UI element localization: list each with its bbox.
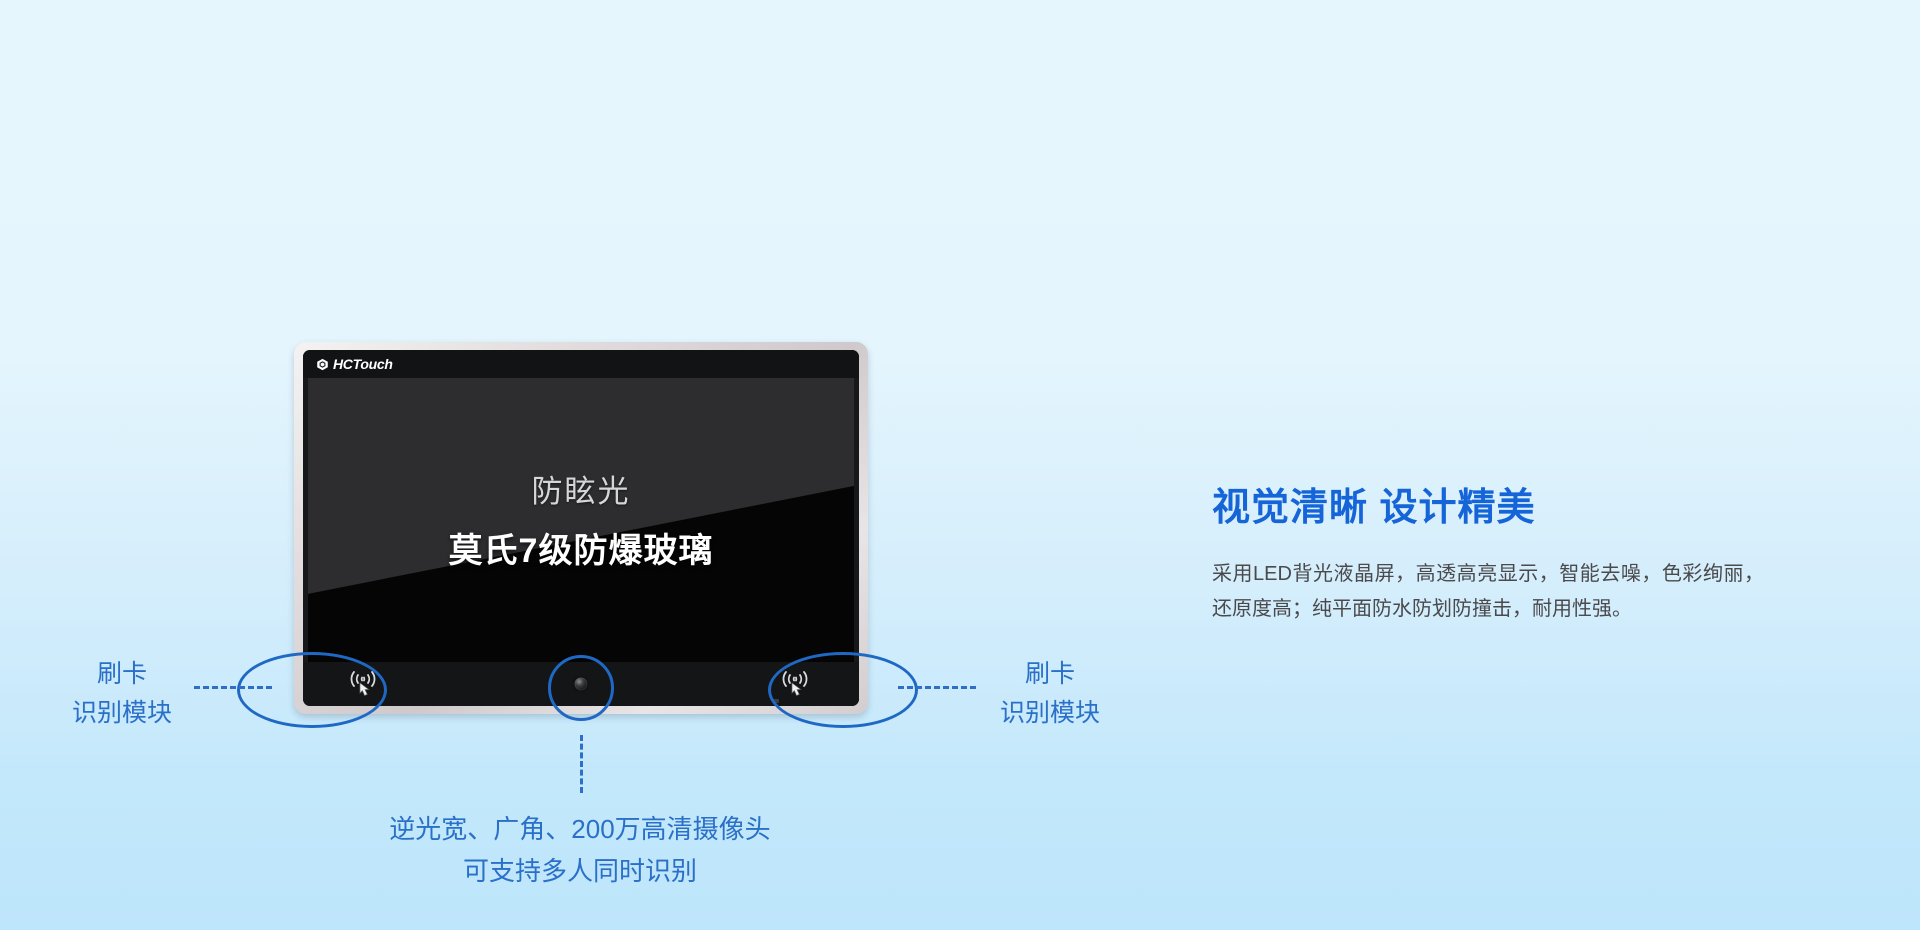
product-device: HCTouch 防眩光 莫氏7级防爆玻璃	[294, 342, 868, 714]
callout-leader-line-left	[194, 686, 272, 689]
callout-leader-line-camera	[580, 735, 583, 793]
device-screen: 防眩光 莫氏7级防爆玻璃	[308, 378, 854, 662]
nfc-card-reader-icon-left	[343, 669, 387, 699]
slide-canvas: HCTouch 防眩光 莫氏7级防爆玻璃	[0, 0, 1920, 930]
screen-glare-overlay	[308, 378, 854, 662]
brand-bar: HCTouch	[303, 350, 859, 378]
hctouch-cube-logo-icon	[316, 358, 329, 371]
screen-headline-glass: 莫氏7级防爆玻璃	[308, 523, 854, 572]
callout-label-left-line2: 识别模块	[52, 694, 192, 733]
feature-description: 采用LED背光液晶屏，高透高亮显示，智能去噪，色彩绚丽，还原度高；纯平面防水防划…	[1212, 557, 1764, 628]
nfc-card-reader-icon-right	[775, 669, 819, 699]
feature-copy-block: 视觉清晰 设计精美 采用LED背光液晶屏，高透高亮显示，智能去噪，色彩绚丽，还原…	[1212, 486, 1812, 628]
camera-lens-icon	[575, 678, 588, 691]
device-outer-frame: HCTouch 防眩光 莫氏7级防爆玻璃	[294, 342, 868, 714]
callout-label-camera-line1: 逆光宽、广角、200万高清摄像头	[250, 808, 910, 850]
callout-label-left-line1: 刷卡	[52, 655, 192, 694]
device-bottom-bezel	[303, 662, 859, 706]
callout-label-right-line2: 识别模块	[980, 694, 1120, 733]
callout-label-camera: 逆光宽、广角、200万高清摄像头 可支持多人同时识别	[250, 808, 910, 892]
callout-label-right-line1: 刷卡	[980, 655, 1120, 694]
callout-label-left-card-reader: 刷卡 识别模块	[52, 655, 192, 733]
device-inner-body: HCTouch 防眩光 莫氏7级防爆玻璃	[303, 350, 859, 706]
screen-headline-anti-glare: 防眩光	[308, 466, 854, 511]
callout-label-right-card-reader: 刷卡 识别模块	[980, 655, 1120, 733]
callout-label-camera-line2: 可支持多人同时识别	[250, 850, 910, 892]
callout-leader-line-right	[898, 686, 976, 689]
status-led-icon	[773, 699, 779, 703]
feature-heading: 视觉清晰 设计精美	[1212, 486, 1812, 532]
brand-name-text: HCTouch	[333, 357, 393, 371]
